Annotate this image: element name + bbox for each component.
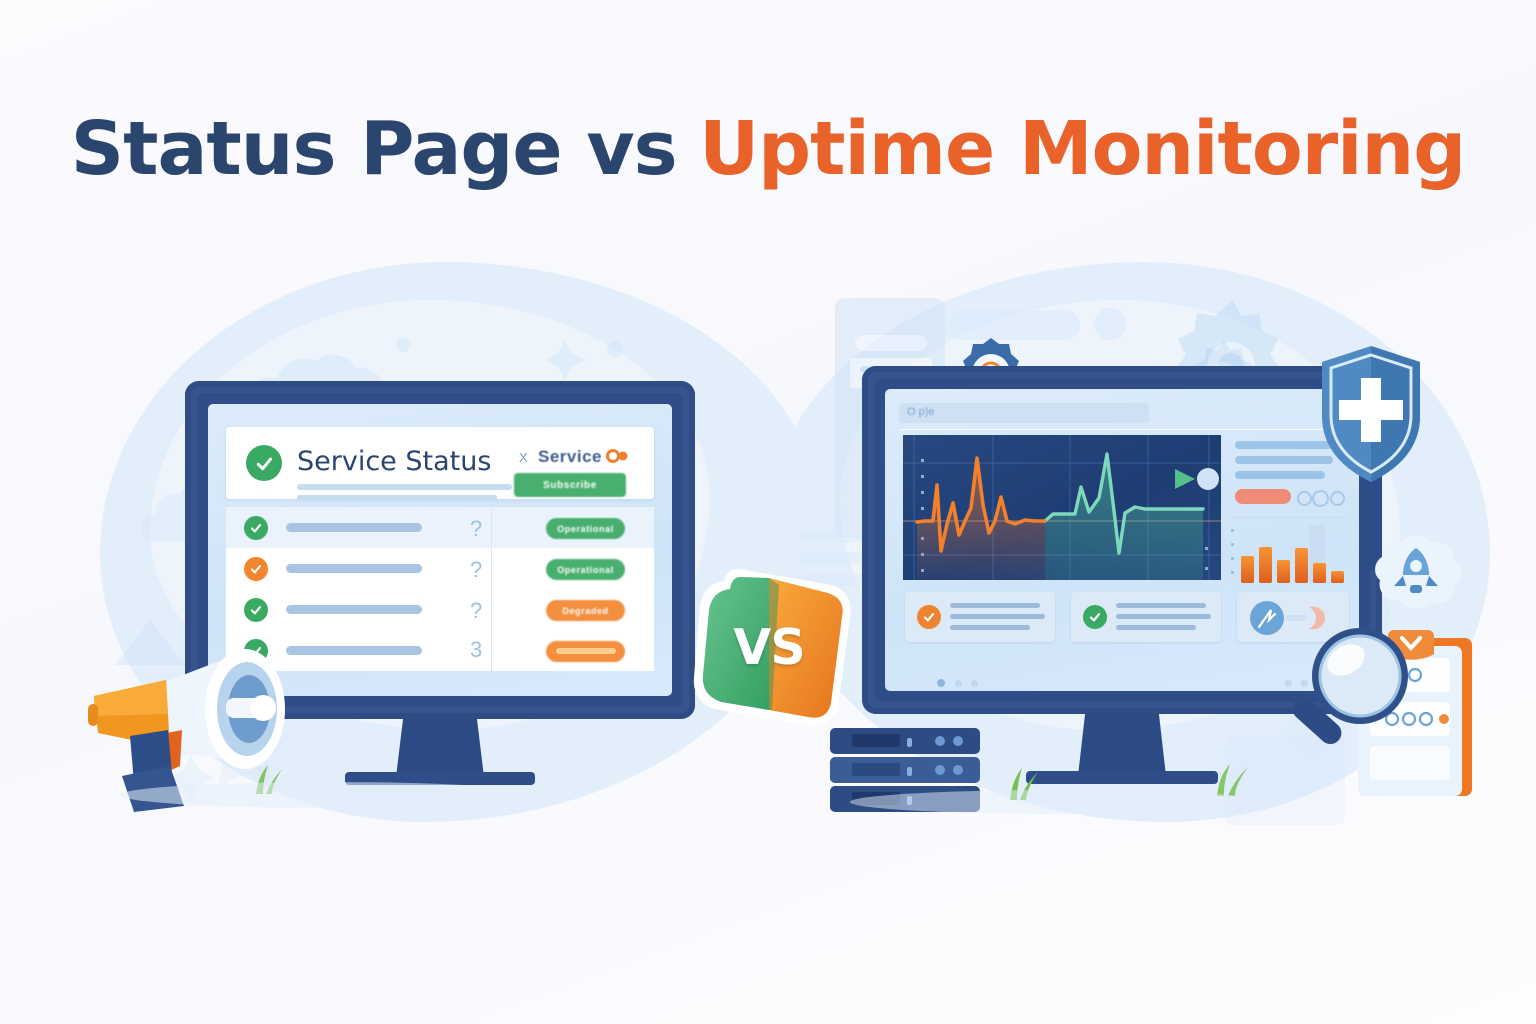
page-title: Service Status [297, 446, 491, 477]
bar [1277, 560, 1290, 583]
browser-bar-text: O p)e [907, 406, 935, 418]
row-marker: 3 [470, 637, 482, 663]
brand-accent-icon [606, 449, 628, 463]
bar [1241, 556, 1254, 583]
page-heading: Status Page vs Uptime Monitoring [0, 112, 1536, 186]
status-check-icon [917, 605, 941, 629]
browser-address-bar[interactable] [899, 403, 1149, 423]
uptime-chart [903, 435, 1221, 580]
status-badge: Operational [546, 559, 625, 580]
status-check-icon [244, 516, 268, 540]
subscribe-button[interactable]: Subscribe [514, 473, 626, 497]
vs-label: VS [684, 565, 854, 730]
status-check-icon [1083, 605, 1107, 629]
bar [1295, 548, 1308, 583]
row-marker: ? [470, 598, 482, 624]
heading-part-orange: Uptime Monitoring [699, 106, 1465, 192]
grass-decor [1208, 758, 1264, 798]
magnifying-glass-icon [1282, 614, 1422, 774]
status-badge: Degraded [546, 600, 625, 621]
heading-part-navy: Status Page vs [71, 106, 677, 192]
bar [1331, 571, 1344, 583]
rocket-icon [1368, 528, 1464, 618]
sidebar-line [1235, 471, 1325, 479]
row-marker: ? [470, 516, 482, 542]
vs-badge: VS [684, 565, 854, 730]
status-check-icon-header [246, 445, 282, 481]
bar [1259, 547, 1272, 583]
sidebar-alert-pill [1235, 489, 1291, 504]
brand-prefix: X [519, 450, 528, 465]
row-marker: ? [470, 557, 482, 583]
sidebar-ring-icon [1297, 491, 1312, 506]
brand-logo: Service [538, 447, 602, 467]
status-check-icon [244, 557, 268, 581]
status-badge: Operational [546, 518, 625, 539]
